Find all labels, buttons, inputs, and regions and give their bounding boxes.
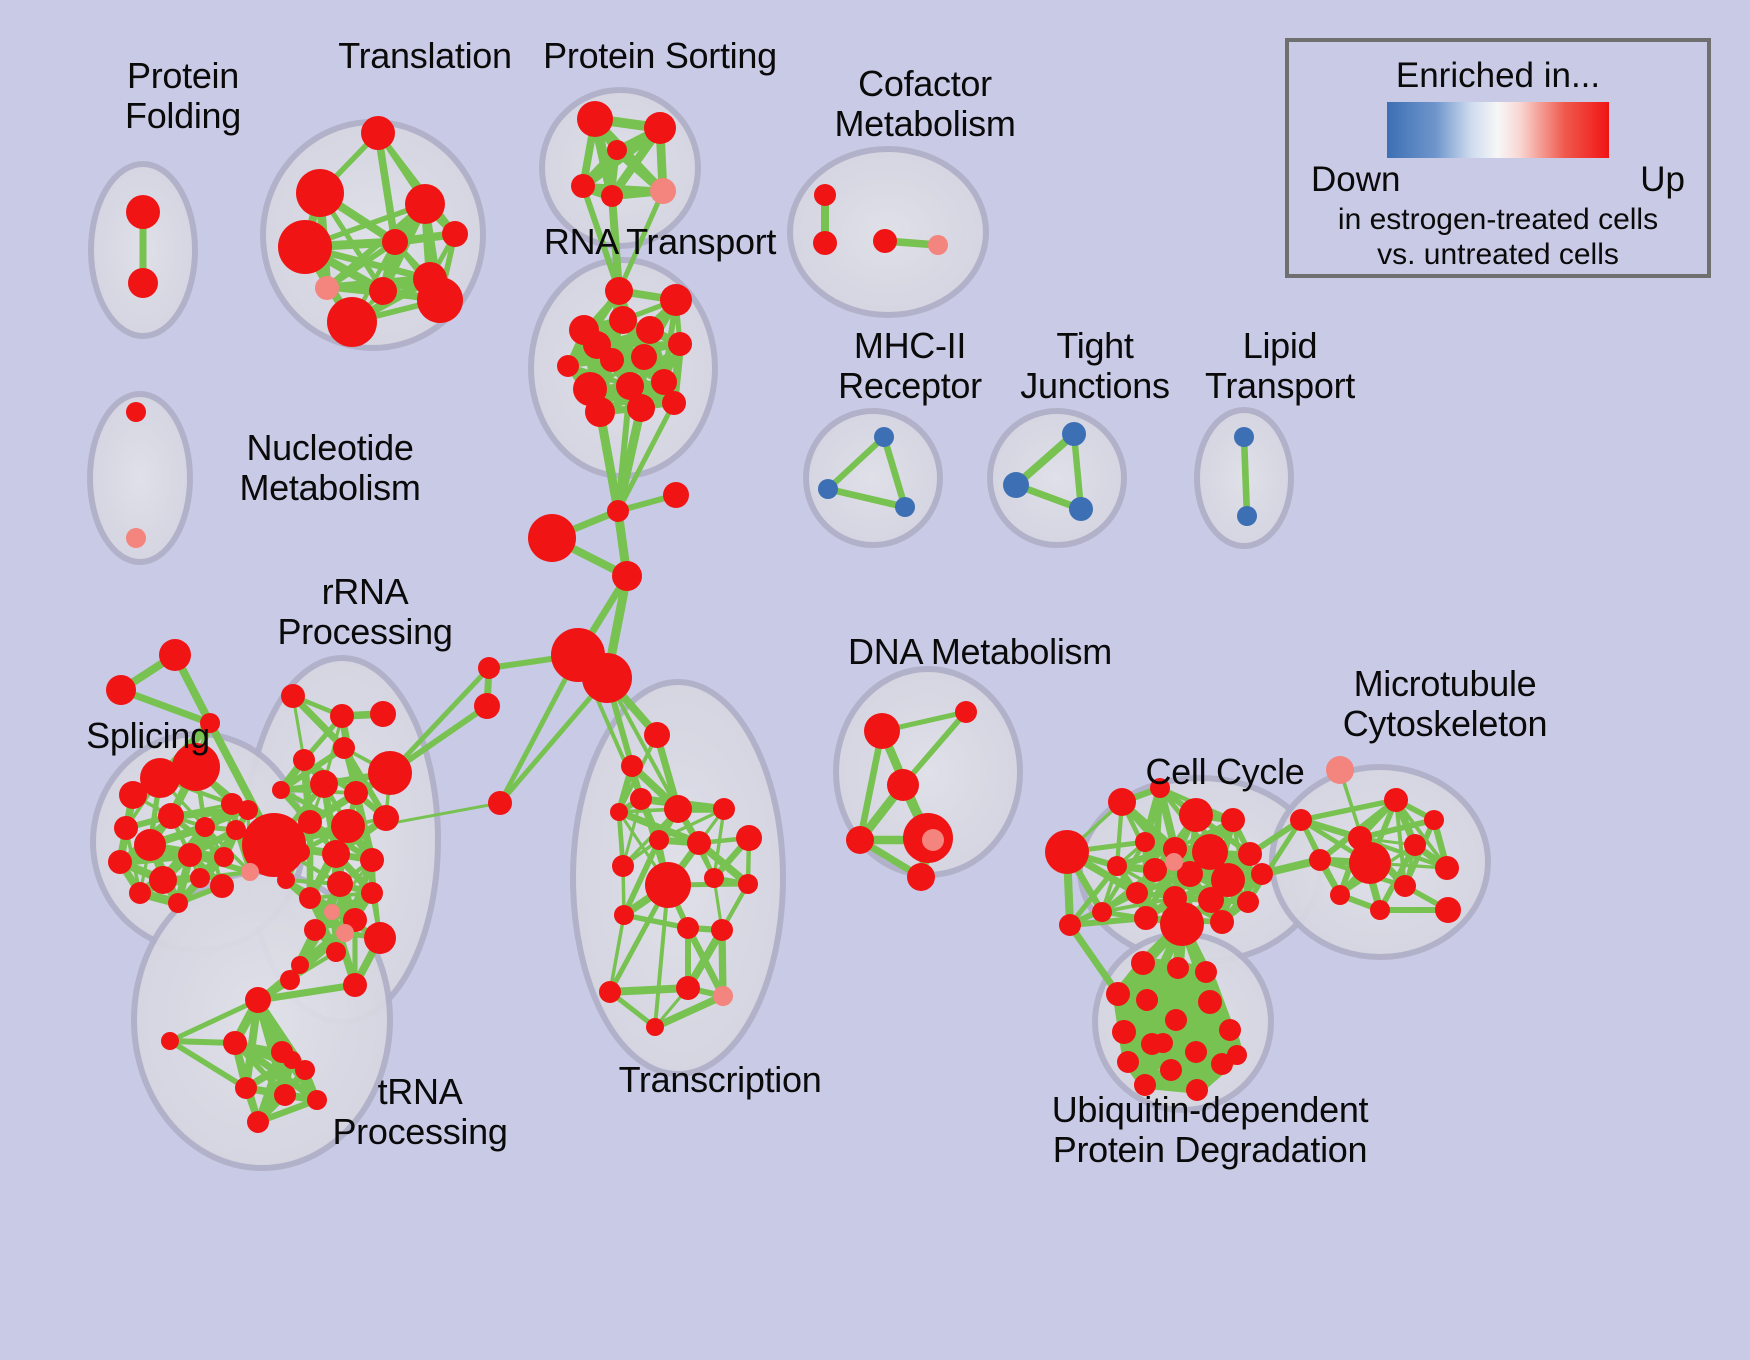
network-node-splicing — [159, 639, 191, 671]
network-node-rna-transport — [668, 332, 692, 356]
network-node-cofactor-metabolism — [814, 184, 836, 206]
network-node-ubiquitin-protein-degradation — [1160, 1059, 1182, 1081]
network-node-ubiquitin-protein-degradation — [1106, 982, 1130, 1006]
network-node-rrna-processing — [331, 809, 365, 843]
network-node-tight-junctions — [1003, 472, 1029, 498]
network-node-splicing — [178, 843, 202, 867]
cluster-label-rrna-processing: rRNA Processing — [240, 572, 490, 653]
network-node-transcription — [711, 919, 733, 941]
network-node-transcription — [713, 986, 733, 1006]
network-node-cell-cycle — [1143, 858, 1167, 882]
network-node-ubiquitin-protein-degradation — [1131, 951, 1155, 975]
cluster-label-microtubule-cytoskeleton: Microtubule Cytoskeleton — [1290, 664, 1600, 745]
network-node-transcription — [645, 862, 691, 908]
legend-colorbar — [1387, 102, 1609, 158]
network-node-rrna-processing — [370, 701, 396, 727]
network-node-spine — [528, 514, 576, 562]
cluster-label-dna-metabolism: DNA Metabolism — [810, 632, 1150, 672]
network-node-microtubule-cytoskeleton — [1290, 809, 1312, 831]
network-node-protein-sorting — [650, 178, 676, 204]
network-node-rrna-processing — [344, 781, 368, 805]
network-node-transcription — [649, 830, 669, 850]
network-node-rrna-processing — [360, 848, 384, 872]
network-node-cell-cycle — [1238, 842, 1262, 866]
network-node-transcription — [630, 788, 652, 810]
legend-high-label: Up — [1640, 160, 1685, 200]
cluster-label-nucleotide-metabolism: Nucleotide Metabolism — [190, 428, 470, 509]
legend-box: Enriched in... Down Up in estrogen-treat… — [1285, 38, 1711, 278]
network-node-microtubule-cytoskeleton — [1404, 834, 1426, 856]
network-node-spine — [607, 500, 629, 522]
cluster-label-protein-sorting: Protein Sorting — [490, 36, 830, 76]
network-node-cell-cycle — [1134, 906, 1158, 930]
network-node-protein-sorting — [607, 140, 627, 160]
network-node-rrna-processing — [336, 924, 354, 942]
network-node-tight-junctions — [1062, 422, 1086, 446]
network-node-ubiquitin-protein-degradation — [1185, 1041, 1207, 1063]
network-node-microtubule-cytoskeleton — [1435, 897, 1461, 923]
network-node-microtubule-cytoskeleton — [1370, 900, 1390, 920]
cluster-label-lipid-transport: Lipid Transport — [1170, 326, 1390, 407]
network-node-rrna-processing — [326, 942, 346, 962]
network-node-ubiquitin-protein-degradation — [1136, 989, 1158, 1011]
network-node-translation — [405, 184, 445, 224]
network-node-splicing — [129, 882, 151, 904]
network-node-rrna-processing — [368, 751, 412, 795]
cluster-hull-mhc-ii-receptor — [806, 411, 940, 545]
network-node-rrna-processing — [322, 840, 350, 868]
network-node-translation — [296, 169, 344, 217]
network-node-protein-folding — [126, 195, 160, 229]
network-node-translation — [382, 229, 408, 255]
network-node-cofactor-metabolism — [928, 235, 948, 255]
network-node-ubiquitin-protein-degradation — [1198, 990, 1222, 1014]
network-node-rrna-processing — [373, 805, 399, 831]
network-node-transcription — [644, 722, 670, 748]
network-node-rna-transport — [605, 277, 633, 305]
network-node-cell-cycle — [1059, 914, 1081, 936]
network-node-microtubule-cytoskeleton — [1349, 842, 1391, 884]
network-node-mhc-ii-receptor — [874, 427, 894, 447]
network-node-spine — [488, 791, 512, 815]
network-node-spine — [663, 482, 689, 508]
network-node-transcription — [713, 798, 735, 820]
network-node-rrna-processing — [324, 904, 340, 920]
network-node-splicing — [158, 803, 184, 829]
network-node-nucleotide-metabolism — [126, 528, 146, 548]
network-node-cell-cycle — [1221, 808, 1245, 832]
network-node-trna-processing — [247, 1111, 269, 1133]
network-node-dna-metabolism — [846, 826, 874, 854]
network-node-translation — [327, 297, 377, 347]
network-node-splicing — [168, 893, 188, 913]
network-node-nucleotide-metabolism — [126, 402, 146, 422]
network-node-cell-cycle — [1210, 910, 1234, 934]
network-node-spine — [478, 657, 500, 679]
network-node-trna-processing — [235, 1077, 257, 1099]
network-node-ubiquitin-protein-degradation — [1165, 1009, 1187, 1031]
network-node-splicing — [190, 868, 210, 888]
network-node-protein-sorting — [644, 112, 676, 144]
network-node-cell-cycle — [1251, 863, 1273, 885]
network-node-rrna-processing — [281, 684, 305, 708]
network-node-microtubule-cytoskeleton — [1394, 875, 1416, 897]
legend-title: Enriched in... — [1305, 56, 1691, 96]
network-node-spine — [582, 653, 632, 703]
network-node-splicing — [195, 817, 215, 837]
network-node-ubiquitin-protein-degradation — [1195, 961, 1217, 983]
enrichment-map-figure: Protein FoldingTranslationProtein Sortin… — [0, 0, 1750, 1360]
network-node-transcription — [736, 825, 762, 851]
network-node-rrna-processing — [304, 919, 326, 941]
network-node-splicing — [114, 816, 138, 840]
network-node-transcription — [599, 981, 621, 1003]
network-node-dna-metabolism — [922, 829, 944, 851]
network-node-transcription — [614, 905, 634, 925]
network-node-ubiquitin-protein-degradation — [1167, 957, 1189, 979]
network-node-dna-metabolism — [864, 713, 900, 749]
network-node-splicing — [119, 781, 147, 809]
network-node-protein-sorting — [571, 174, 595, 198]
network-node-transcription — [677, 917, 699, 939]
network-node-microtubule-cytoskeleton — [1384, 788, 1408, 812]
network-node-microtubule-cytoskeleton — [1309, 849, 1331, 871]
network-node-transcription — [738, 874, 758, 894]
network-node-rna-transport — [627, 394, 655, 422]
network-node-rrna-processing — [272, 781, 290, 799]
network-node-cell-cycle — [1237, 891, 1259, 913]
network-node-cell-cycle — [1160, 902, 1204, 946]
network-node-lipid-transport — [1234, 427, 1254, 447]
network-node-rna-transport — [631, 344, 657, 370]
network-node-translation — [442, 221, 468, 247]
network-node-dna-metabolism — [887, 769, 919, 801]
cluster-label-transcription: Transcription — [570, 1060, 870, 1100]
network-node-transcription — [687, 831, 711, 855]
cluster-label-ubiquitin-protein-degradation: Ubiquitin-dependent Protein Degradation — [985, 1090, 1435, 1171]
network-node-rna-transport — [585, 397, 615, 427]
network-node-ubiquitin-protein-degradation — [1112, 1020, 1136, 1044]
network-node-protein-folding — [128, 268, 158, 298]
network-node-rrna-processing — [333, 737, 355, 759]
network-node-splicing — [241, 863, 259, 881]
network-node-microtubule-cytoskeleton — [1424, 810, 1444, 830]
network-node-spine — [612, 561, 642, 591]
network-node-transcription — [676, 976, 700, 1000]
network-node-rrna-processing — [299, 887, 321, 909]
network-node-cell-cycle — [1135, 832, 1155, 852]
network-node-rna-transport — [557, 355, 579, 377]
network-node-microtubule-cytoskeleton — [1330, 885, 1350, 905]
network-node-rrna-processing — [343, 973, 367, 997]
cluster-label-trna-processing: tRNA Processing — [300, 1072, 540, 1153]
network-node-splicing — [149, 866, 177, 894]
network-node-translation — [417, 277, 463, 323]
network-node-ubiquitin-protein-degradation — [1117, 1051, 1139, 1073]
cluster-label-cell-cycle: Cell Cycle — [1095, 752, 1355, 792]
network-node-cell-cycle — [1198, 887, 1224, 913]
network-node-trna-processing — [283, 1051, 301, 1069]
legend-subtitle: in estrogen-treated cells vs. untreated … — [1305, 202, 1691, 273]
network-node-mhc-ii-receptor — [818, 479, 838, 499]
network-node-transcription — [646, 1018, 664, 1036]
network-node-splicing — [238, 800, 258, 820]
cluster-label-protein-folding: Protein Folding — [78, 56, 288, 137]
network-node-splicing — [214, 847, 234, 867]
network-node-trna-processing — [223, 1031, 247, 1055]
network-node-lipid-transport — [1237, 506, 1257, 526]
network-node-trna-processing — [274, 1084, 296, 1106]
network-node-splicing — [226, 820, 246, 840]
network-node-splicing — [134, 829, 166, 861]
network-node-rrna-processing — [327, 871, 353, 897]
network-node-translation — [278, 220, 332, 274]
network-node-cell-cycle — [1126, 882, 1148, 904]
network-node-rna-transport — [662, 391, 686, 415]
network-node-dna-metabolism — [907, 863, 935, 891]
legend-low-label: Down — [1311, 160, 1400, 200]
network-node-rna-transport — [636, 316, 664, 344]
network-node-cell-cycle — [1092, 902, 1112, 922]
network-node-transcription — [610, 803, 628, 821]
network-node-mhc-ii-receptor — [895, 497, 915, 517]
network-node-dna-metabolism — [955, 701, 977, 723]
network-node-rrna-processing — [310, 770, 338, 798]
network-node-translation — [361, 116, 395, 150]
cluster-label-splicing: Splicing — [48, 716, 248, 756]
network-node-ubiquitin-protein-degradation — [1219, 1019, 1241, 1041]
network-node-rna-transport — [660, 284, 692, 316]
cluster-label-cofactor-metabolism: Cofactor Metabolism — [790, 64, 1060, 145]
network-node-translation — [369, 277, 397, 305]
network-node-transcription — [612, 855, 634, 877]
network-node-cell-cycle — [1107, 856, 1127, 876]
network-node-trna-processing — [161, 1032, 179, 1050]
network-node-protein-sorting — [601, 185, 623, 207]
network-node-spine — [474, 693, 500, 719]
cluster-label-rna-transport: RNA Transport — [495, 222, 825, 262]
network-node-rrna-processing — [330, 704, 354, 728]
network-node-rna-transport — [600, 348, 624, 372]
network-node-rrna-processing — [245, 987, 271, 1013]
network-node-tight-junctions — [1069, 497, 1093, 521]
network-node-transcription — [664, 795, 692, 823]
network-node-cell-cycle — [1179, 798, 1213, 832]
network-node-cell-cycle — [1045, 830, 1089, 874]
network-node-microtubule-cytoskeleton — [1435, 856, 1459, 880]
network-node-rrna-processing — [361, 882, 383, 904]
network-node-cofactor-metabolism — [873, 229, 897, 253]
network-node-rrna-processing — [291, 956, 309, 974]
network-node-splicing — [106, 675, 136, 705]
network-node-ubiquitin-protein-degradation — [1227, 1045, 1247, 1065]
network-edge — [1244, 437, 1247, 516]
network-node-ubiquitin-protein-degradation — [1153, 1033, 1173, 1053]
network-node-rna-transport — [609, 306, 637, 334]
network-node-cell-cycle — [1165, 853, 1183, 871]
network-node-translation — [315, 276, 339, 300]
network-node-transcription — [621, 755, 643, 777]
network-node-rrna-processing — [364, 922, 396, 954]
network-node-transcription — [704, 868, 724, 888]
network-node-splicing — [210, 874, 234, 898]
network-node-rrna-processing — [293, 749, 315, 771]
network-node-protein-sorting — [577, 101, 613, 137]
network-node-splicing — [108, 850, 132, 874]
